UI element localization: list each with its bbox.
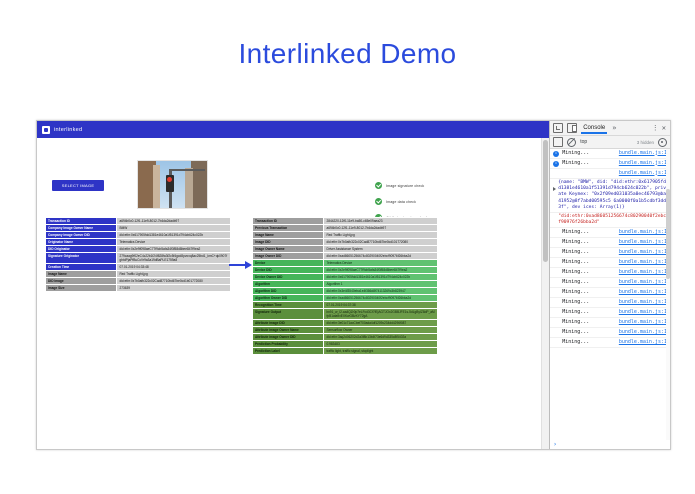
console-log-entry[interactable]: Mining...bundle.main.js:1 xyxy=(550,268,670,278)
row-key: Device Owner DID xyxy=(253,274,324,281)
row-key: Transaction ID xyxy=(253,218,324,225)
web-page-pane: interlinked SELECT IMAGE xyxy=(37,121,549,449)
row-key: Image Owner DID xyxy=(253,253,324,260)
console-log-message: Mining... xyxy=(562,319,589,325)
row-value: 273639 xyxy=(117,285,231,292)
console-log-message: Mining... xyxy=(562,239,589,245)
table-row: Previous Transactiona694b0c0-12f1-11e9-8… xyxy=(253,225,438,232)
row-value: did:ethr:0x617905fdd1381e4610a1f51391d79… xyxy=(117,232,231,239)
row-key: Image Name xyxy=(46,271,117,278)
row-value: 07.01.2019 04:37:38 xyxy=(324,302,438,309)
console-log-source-link[interactable]: bundle.main.js:1 xyxy=(619,249,667,255)
row-key: Attribute image Owner DID xyxy=(253,334,324,341)
row-key: Company Image Owner DID xyxy=(46,232,117,239)
console-log-entry[interactable]: Mining...bundle.main.js:1 xyxy=(550,308,670,318)
console-log-message: Mining... xyxy=(562,339,589,345)
table-row: DeviceTelematics Device xyxy=(253,260,438,267)
row-value: 07.01.2019 04:33:48 xyxy=(117,264,231,271)
row-value: a694b0c0-12f1-11e9-8012-7b4da2dadb97 xyxy=(324,225,438,232)
table-row: Recognition Time07.01.2019 04:37:38 xyxy=(253,302,438,309)
console-log-message: Mining... xyxy=(562,269,589,275)
table-row: Image NameRed Traffic Light.jpg xyxy=(253,232,438,239)
console-object-entry[interactable]: {name: "BMW", did: "did:ethr:0x617905fdd… xyxy=(550,179,670,213)
console-log-message: Mining... xyxy=(562,329,589,335)
row-key: DID Image xyxy=(46,278,117,285)
close-icon[interactable]: ✕ xyxy=(662,124,667,132)
building-right-2 xyxy=(185,168,193,208)
console-log-entry[interactable]: Mining...bundle.main.js:1 xyxy=(550,338,670,348)
row-key: Originator Name xyxy=(46,239,117,246)
row-value: Telematics Device xyxy=(324,260,438,267)
table-row: Image Owner NameDriver Assistance System xyxy=(253,246,438,253)
browser-window: interlinked SELECT IMAGE xyxy=(36,120,671,450)
execution-context-select[interactable]: top xyxy=(580,139,587,145)
row-key: Device DID xyxy=(253,267,324,274)
console-log-entry[interactable]: Mining...bundle.main.js:1 xyxy=(550,278,670,288)
console-log-source-link[interactable]: bundle.main.js:1 xyxy=(619,259,667,265)
row-value: BMW xyxy=(117,225,231,232)
row-key: DID Originator xyxy=(46,246,117,253)
row-key: Prediction Label xyxy=(253,348,324,355)
console-scrollbar[interactable] xyxy=(666,149,670,440)
console-log-message: Mining... xyxy=(562,299,589,305)
table-row: Signature Originator279caag9f02eC4c22b1f… xyxy=(46,253,231,264)
row-value: did:ethr:0x617905fdd1381e4610a1f51391d79… xyxy=(324,274,438,281)
row-value: 2844220-12f0-11e9-ba50-c65e09aea23 xyxy=(324,218,438,225)
row-key: Recognition Time xyxy=(253,302,324,309)
console-log-entry[interactable]: Mining...bundle.main.js:1 xyxy=(550,149,670,159)
console-scrollbar-thumb[interactable] xyxy=(666,189,670,279)
row-value: did:ethr:3aq2d06202d2a3f8b13b4f73e6d9d33… xyxy=(324,334,438,341)
device-toolbar-icon[interactable] xyxy=(567,123,577,133)
table-row: Attribute image DIDdid:ethr:3e01c71acCbe… xyxy=(253,320,438,327)
info-icon xyxy=(553,161,559,167)
table-row: Image Owner DIDdid:ethr:0xad86051256674c… xyxy=(253,253,438,260)
devtools-filter-bar: top 3 hidden xyxy=(550,136,670,149)
row-value: Sensorflow Owner xyxy=(324,327,438,334)
row-key: Previous Transaction xyxy=(253,225,324,232)
console-log-source-link[interactable]: bundle.main.js:1 xyxy=(619,329,667,335)
table-row: Originator NameTelematics Device xyxy=(46,239,231,246)
table-row: Prediction Probability0.983483 xyxy=(253,341,438,348)
row-value: 279caag9f02eC4c22b1f24f828fa3f2c5f4gcd8p… xyxy=(117,253,231,264)
hidden-messages-count[interactable]: 3 hidden xyxy=(637,140,654,145)
table-row: Company Image Owner DIDdid:ethr:0x617905… xyxy=(46,232,231,239)
row-value: 0.983483 xyxy=(324,341,438,348)
row-value: Red Traffic Light.jpg xyxy=(117,271,231,278)
table-row: Signature Outputbx91_w_I2-aa4QZr0p7eLFcd… xyxy=(253,309,438,320)
arrow-head xyxy=(245,261,252,269)
console-log-entry[interactable]: Mining...bundle.main.js:1 xyxy=(550,238,670,248)
console-string-entry[interactable]: "did:ethr:0xad86051256674c80290040f2ebcf… xyxy=(550,213,670,228)
table-row: Algorithm DIDdid:ethr:0x3e4f3540eba1e4f3… xyxy=(253,288,438,295)
check-label: Image data check xyxy=(386,200,416,204)
console-log-entry[interactable]: Mining...bundle.main.js:1 xyxy=(550,258,670,268)
row-key: Attribute image DID xyxy=(253,320,324,327)
presentation-slide: Interlinked Demo interlinked SELECT IMAG… xyxy=(0,0,695,494)
console-log-entry[interactable]: Mining...bundle.main.js:1 xyxy=(550,298,670,308)
table-row: Transaction IDa694b0c0-12f1-11e9-8012-7b… xyxy=(46,218,231,225)
row-key: Attribute image Owner Name xyxy=(253,327,324,334)
console-object-tail: ices: Array(1)} xyxy=(583,205,625,210)
row-value: traffic light, traffic signal, stoplight xyxy=(324,348,438,355)
console-log-entry[interactable]: Mining...bundle.main.js:1 xyxy=(550,288,670,298)
page-title: Interlinked Demo xyxy=(0,38,695,70)
row-key: Company Image Owner Name xyxy=(46,225,117,232)
console-log-entry[interactable]: Mining...bundle.main.js:1 xyxy=(550,228,670,238)
clear-console-icon[interactable] xyxy=(567,138,576,147)
row-key: Device xyxy=(253,260,324,267)
console-log-source-link[interactable]: bundle.main.js:1 xyxy=(619,319,667,325)
expand-triangle-icon[interactable] xyxy=(553,187,556,191)
console-log-message: Mining... xyxy=(562,229,589,235)
row-key: Image Name xyxy=(253,232,324,239)
image-preview[interactable] xyxy=(137,160,208,209)
upload-section: SELECT IMAGE Image signature check xyxy=(37,138,549,216)
console-log-source-link[interactable]: bundle.main.js:1 xyxy=(619,160,667,166)
check-circle-icon xyxy=(375,182,382,189)
block-tables-area: Transaction IDa694b0c0-12f1-11e9-8012-7b… xyxy=(37,217,549,449)
tab-console[interactable]: Console xyxy=(581,123,607,134)
check-item: Image signature check xyxy=(375,182,428,189)
row-key: Signature Originator xyxy=(46,253,117,264)
app-brand-label: interlinked xyxy=(54,127,82,133)
console-log-entry[interactable]: Mining...bundle.main.js:1 xyxy=(550,328,670,338)
page-scrollbar-thumb[interactable] xyxy=(543,140,548,262)
row-key: Creation Time xyxy=(46,264,117,271)
console-log-source-link[interactable]: bundle.main.js:1 xyxy=(619,279,667,285)
console-log-message: Mining... xyxy=(562,309,589,315)
table-row: Image DIDdid:ethr:0x7b0afb322c02Cad87710… xyxy=(253,239,438,246)
building-left-2 xyxy=(153,165,160,208)
select-image-button[interactable]: SELECT IMAGE xyxy=(52,180,104,191)
building-right xyxy=(191,161,207,208)
console-log-message: Mining... xyxy=(562,279,589,285)
app-header-bar: interlinked xyxy=(37,121,549,138)
row-value: bx91_w_I2-aa4QZr0p7eLFcd3Cf7fEjAGTJOx2GB… xyxy=(324,309,438,320)
image-block-table: Transaction IDa694b0c0-12f1-11e9-8012-7b… xyxy=(45,217,231,292)
check-circle-icon xyxy=(375,198,382,205)
row-value: Driver Assistance System xyxy=(324,246,438,253)
check-item: Image data check xyxy=(375,198,428,205)
inspect-element-icon[interactable] xyxy=(553,123,563,133)
console-log-entry[interactable]: Mining...bundle.main.js:1 xyxy=(550,318,670,328)
row-key: Algorithm Owner DID xyxy=(253,295,324,302)
row-key: Algorithm xyxy=(253,281,324,288)
table-row: AlgorithmAlgorithm 1 xyxy=(253,281,438,288)
console-prompt[interactable]: › xyxy=(550,440,670,449)
more-tabs-icon[interactable]: » xyxy=(612,124,616,132)
console-log-entry[interactable]: bundle.main.js:1 xyxy=(550,169,670,179)
row-value: did:ethr:0x7b0afb322c02Cad87710bd67be0cd… xyxy=(117,278,231,285)
console-log-source-link[interactable]: bundle.main.js:1 xyxy=(619,229,667,235)
attribute-block-table: Transaction ID2844220-12f0-11e9-ba50-c65… xyxy=(252,217,438,355)
table-row: Transaction ID2844220-12f0-11e9-ba50-c65… xyxy=(253,218,438,225)
check-label: Image signature check xyxy=(386,184,424,188)
row-value: did:ethr:0x7b0afb322c02Cad87710bd67be0cd… xyxy=(324,239,438,246)
table-row: Attribute image Owner DIDdid:ethr:3aq2d0… xyxy=(253,334,438,341)
row-value: did:ethr:0x3e4f3540eba1e4f386d8f74113269… xyxy=(324,288,438,295)
table-row: Prediction Labeltraffic light, traffic s… xyxy=(253,348,438,355)
row-value: did:ethr:3e01c71acCbef700ada4df1209c234d… xyxy=(324,320,438,327)
signal-arm xyxy=(169,169,205,171)
table-row: Image Size273639 xyxy=(46,285,231,292)
info-icon xyxy=(553,151,559,157)
row-value: Red Traffic Light.jpg xyxy=(324,232,438,239)
arrow-right-icon xyxy=(229,261,253,269)
console-log-message: Mining... xyxy=(562,259,589,265)
row-key: Transaction ID xyxy=(46,218,117,225)
devtools-panel: Console » ⋮ ✕ top 3 hidden Mining...bund… xyxy=(549,121,670,449)
row-key: Signature Output xyxy=(253,309,324,320)
gear-icon[interactable] xyxy=(658,138,667,147)
console-log-source-link[interactable]: bundle.main.js:1 xyxy=(619,309,667,315)
console-log-source-link[interactable]: bundle.main.js:1 xyxy=(619,170,667,176)
table-row: DID Imagedid:ethr:0x7b0afb322c02Cad87710… xyxy=(46,278,231,285)
console-log-source-link[interactable]: bundle.main.js:1 xyxy=(619,339,667,345)
row-key: Algorithm DID xyxy=(253,288,324,295)
table-row: Device Owner DIDdid:ethr:0x617905fdd1381… xyxy=(253,274,438,281)
console-log-message: Mining... xyxy=(562,160,589,166)
row-value: a694b0c0-12f1-11e9-8012-7b4da2dadb97 xyxy=(117,218,231,225)
table-row: Device DIDdid:ethr:0x2e9f098aeC77f9cb5af… xyxy=(253,267,438,274)
row-value: did:ethr:0xad86051256674c80290040f2ebcf9… xyxy=(324,295,438,302)
table-row: Attribute image Owner NameSensorflow Own… xyxy=(253,327,438,334)
table-row: Image NameRed Traffic Light.jpg xyxy=(46,271,231,278)
row-key: Prediction Probability xyxy=(253,341,324,348)
filter-levels-icon[interactable] xyxy=(553,137,563,147)
console-log-source-link[interactable]: bundle.main.js:1 xyxy=(619,239,667,245)
console-log-entry[interactable]: Mining...bundle.main.js:1 xyxy=(550,248,670,258)
console-log-message: Mining... xyxy=(562,249,589,255)
console-log-source-link[interactable]: bundle.main.js:1 xyxy=(619,299,667,305)
table-row: Algorithm Owner DIDdid:ethr:0xad86051256… xyxy=(253,295,438,302)
console-log-source-link[interactable]: bundle.main.js:1 xyxy=(619,289,667,295)
table-row: Company Image Owner NameBMW xyxy=(46,225,231,232)
console-log-message: Mining... xyxy=(562,289,589,295)
row-key: Image Size xyxy=(46,285,117,292)
console-log-message: Mining... xyxy=(562,150,589,156)
console-log-entry[interactable]: Mining...bundle.main.js:1 xyxy=(550,159,670,169)
console-log-source-link[interactable]: bundle.main.js:1 xyxy=(619,150,667,156)
page-scrollbar[interactable] xyxy=(541,138,549,449)
row-value: did:ethr:0x2e9f098aeC77f9cb5afa34f3f58d8… xyxy=(324,267,438,274)
table-row: Creation Time07.01.2019 04:33:48 xyxy=(46,264,231,271)
row-key: Image Owner Name xyxy=(253,246,324,253)
row-key: Image DID xyxy=(253,239,324,246)
table-row: DID Originatordid:ethr:0x2e9f098aeC77f9c… xyxy=(46,246,231,253)
kebab-menu-icon[interactable]: ⋮ xyxy=(652,124,658,132)
row-value: Telematics Device xyxy=(117,239,231,246)
console-log-list[interactable]: Mining...bundle.main.js:1Mining...bundle… xyxy=(550,149,670,440)
devtools-tab-bar: Console » ⋮ ✕ xyxy=(550,121,670,136)
row-value: Algorithm 1 xyxy=(324,281,438,288)
arrow-shaft xyxy=(229,264,246,266)
console-log-source-link[interactable]: bundle.main.js:1 xyxy=(619,269,667,275)
row-value: did:ethr:0x2e9f098aeC77f9cb5afa34f3f58d8… xyxy=(117,246,231,253)
row-value: did:ethr:0xad86051256674c80290040f2ebcf9… xyxy=(324,253,438,260)
red-lamp-icon xyxy=(167,177,172,182)
interlinked-logo-icon xyxy=(42,126,50,134)
